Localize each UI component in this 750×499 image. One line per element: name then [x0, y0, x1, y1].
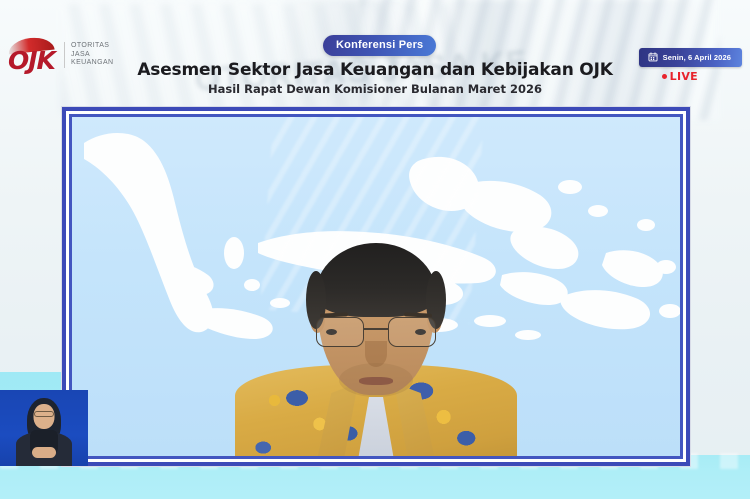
video-frame-inner-border: AGUSMAN Kepala Eksekutif Pengawas Lembag… [69, 114, 683, 459]
page-subtitle: Hasil Rapat Dewan Komisioner Bulanan Mar… [0, 82, 750, 96]
live-indicator: LIVE [662, 70, 698, 83]
glasses-bridge [364, 328, 388, 330]
broadcast-screen: OTORITAS JASA KEUANGAN OJK OTORITAS JASA… [0, 0, 750, 499]
interpreter-hands [32, 447, 56, 458]
konferensi-pers-badge: Konferensi Pers [323, 35, 436, 56]
video-frame: AGUSMAN Kepala Eksekutif Pengawas Lembag… [62, 107, 690, 466]
date-badge: Senin, 6 April 2026 [639, 48, 742, 67]
date-badge-text: Senin, 6 April 2026 [663, 53, 731, 62]
speaker-video-feed: AGUSMAN Kepala Eksekutif Pengawas Lembag… [72, 117, 680, 456]
live-label: LIVE [670, 70, 698, 83]
live-dot-icon [662, 74, 667, 79]
lens-right [388, 317, 436, 347]
mouth [359, 377, 393, 385]
lens-left [316, 317, 364, 347]
interpreter-glasses [34, 411, 54, 417]
ojk-word-line1: OTORITAS [71, 42, 114, 51]
ojk-word-line2: JASA [71, 51, 114, 60]
calendar-icon [648, 52, 658, 62]
sign-language-interpreter-pip [0, 390, 88, 466]
page-title: Asesmen Sektor Jasa Keuangan dan Kebijak… [0, 60, 750, 80]
hair [315, 243, 437, 317]
speaker-portrait [226, 213, 526, 456]
